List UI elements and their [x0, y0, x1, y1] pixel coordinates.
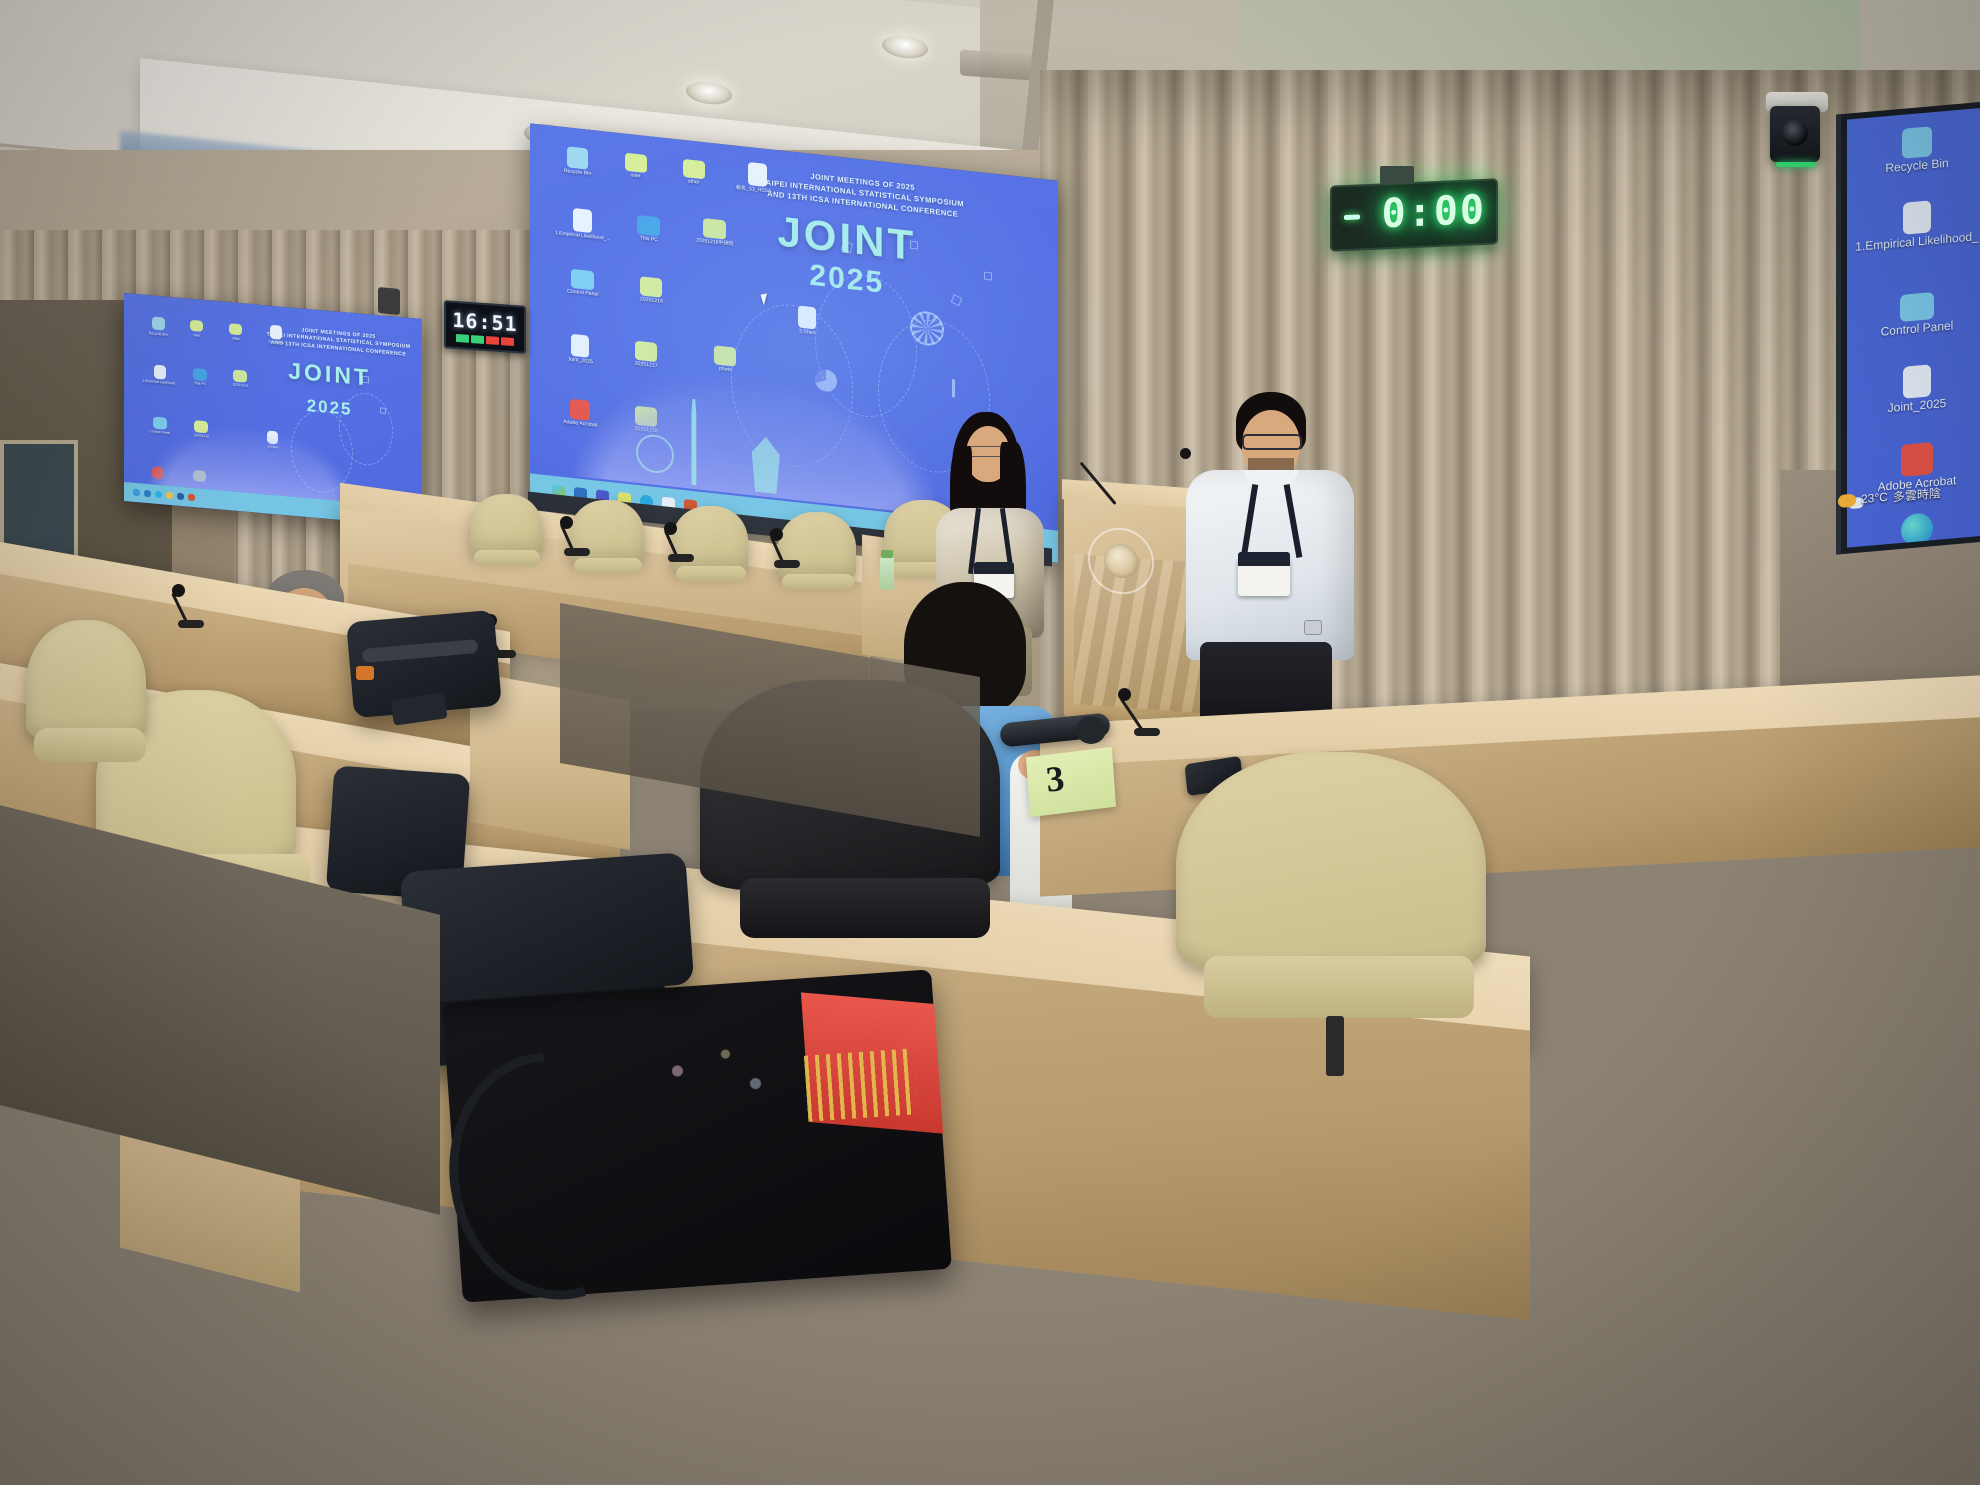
- folder-icon: [233, 369, 247, 382]
- wall-clock-segment: [471, 335, 484, 344]
- wifi-icon: [952, 379, 977, 400]
- conference-room-photo: JOINT MEETINGS OF 2025 TAIPEI INTERNATIO…: [0, 0, 1980, 1485]
- start-icon[interactable]: [133, 489, 140, 497]
- powerpoint-icon[interactable]: [188, 494, 195, 502]
- left-icon-other[interactable]: other: [216, 322, 255, 343]
- panel-chair[interactable]: [470, 494, 550, 584]
- pdf-icon: [573, 208, 592, 233]
- timer-dash-indicator: [1344, 214, 1360, 220]
- desktop-icon-control-panel[interactable]: Control Panel: [548, 267, 617, 301]
- folder-icon: [640, 277, 662, 298]
- control-panel-icon: [1900, 292, 1934, 322]
- office-chair-right[interactable]: [1176, 752, 1526, 1082]
- eyeglasses-icon: [1242, 434, 1302, 450]
- right-icon-recycle-bin[interactable]: Recycle Bin: [1847, 121, 1980, 179]
- wall-clock-time: 16:51: [446, 307, 524, 336]
- gooseneck-microphone[interactable]: [168, 584, 214, 624]
- pdf-icon: [154, 364, 166, 379]
- podium-microphone[interactable]: [1106, 446, 1196, 502]
- institute-crest-icon: [1104, 543, 1138, 579]
- water-bottle-cap: [881, 550, 893, 558]
- pdf-icon: [1903, 364, 1931, 398]
- mouse-cursor: [761, 293, 771, 305]
- folder-user-icon: [190, 320, 203, 332]
- ceiling-vent: [960, 49, 1034, 80]
- left-icon-this-pc[interactable]: This PC: [181, 367, 220, 388]
- wall-clock-segment: [486, 336, 499, 345]
- desktop-icon-recycle-bin[interactable]: Recycle Bin: [548, 144, 606, 179]
- weather-temperature: 23°C: [1861, 490, 1888, 506]
- camera-status-led: [1776, 162, 1816, 167]
- gooseneck-microphone[interactable]: [1116, 688, 1186, 732]
- left-icon-folder-20251216[interactable]: 20251216: [219, 368, 261, 390]
- gooseneck-microphone[interactable]: [556, 516, 596, 552]
- desktop-icon-other[interactable]: other: [665, 157, 723, 189]
- wall-clock-segment: [501, 337, 514, 346]
- control-panel-icon: [571, 269, 594, 290]
- desktop-icon-user[interactable]: user: [607, 151, 665, 183]
- search-icon[interactable]: [144, 490, 151, 498]
- document-icon: [748, 162, 767, 187]
- this-pc-icon: [193, 368, 207, 381]
- tote-bag-floral-print: [647, 1027, 793, 1127]
- wall-clock: 16:51: [444, 300, 526, 354]
- decor-square: [910, 241, 918, 250]
- recycle-bin-icon: [567, 146, 588, 169]
- desktop-icon-empirical-likelihood[interactable]: 1.Empirical Likelihood_...: [548, 206, 617, 244]
- desktop-icon-this-pc[interactable]: This PC: [620, 213, 678, 246]
- recycle-bin-icon: [1902, 126, 1932, 159]
- right-icon-control-panel[interactable]: Control Panel: [1847, 287, 1980, 342]
- document-icon: [270, 324, 282, 339]
- decor-square: [362, 376, 369, 384]
- left-screen-mount-bracket: [378, 287, 400, 315]
- timer-mount-bracket: [1380, 166, 1414, 184]
- backpack-buckle-icon: [356, 666, 374, 680]
- edge-icon: [1901, 512, 1933, 547]
- edge-icon[interactable]: [155, 491, 162, 499]
- word-icon[interactable]: [177, 493, 184, 501]
- wristwatch-icon: [1304, 620, 1322, 635]
- weather-condition: 多雲時陰: [1893, 484, 1941, 505]
- right-icon-empirical-likelihood[interactable]: 1.Empirical Likelihood_: [1847, 195, 1980, 255]
- right-icon-joint-2025[interactable]: Joint_2025: [1847, 359, 1980, 419]
- left-screen-logo-word: JOINT: [261, 355, 398, 394]
- microphone-head-icon: [1076, 716, 1106, 744]
- camera-lens-icon: [1782, 120, 1808, 146]
- tote-bag-graphic: [804, 1048, 918, 1122]
- countdown-timer: 0:00: [1330, 178, 1498, 251]
- wall-clock-segment: [456, 334, 469, 343]
- recycle-bin-icon: [152, 316, 165, 330]
- ceiling-camera: [1766, 92, 1828, 170]
- badge-header: [1238, 552, 1290, 566]
- countdown-timer-value: 0:00: [1332, 180, 1496, 245]
- note-card-mark: 3: [1044, 756, 1082, 799]
- left-icon-recycle-bin[interactable]: Recycle Bin: [139, 315, 178, 338]
- folder-icon: [683, 159, 705, 179]
- man-standing-right: [1186, 392, 1356, 742]
- explorer-icon[interactable]: [166, 492, 173, 500]
- gooseneck-microphone[interactable]: [766, 528, 806, 564]
- adobe-acrobat-icon: [1901, 442, 1933, 477]
- left-icon-user[interactable]: user: [178, 318, 217, 339]
- folder-icon: [229, 323, 242, 335]
- left-icon-empirical-likelihood[interactable]: 1.Empirical Likelihood_: [139, 363, 181, 387]
- decor-square: [380, 407, 386, 414]
- folder-icon: [703, 219, 726, 240]
- decor-square: [984, 272, 992, 281]
- office-chair-far-left[interactable]: [26, 620, 166, 800]
- cloudy-icon: [1838, 493, 1856, 508]
- badge-header: [974, 562, 1014, 574]
- gooseneck-microphone[interactable]: [660, 522, 700, 558]
- folder-user-icon: [625, 153, 647, 173]
- pdf-icon: [1903, 200, 1931, 234]
- left-icon-registration[interactable]: S3_HSSA: [255, 323, 297, 347]
- desktop-icon-folder-20251216[interactable]: 20251216: [620, 274, 683, 308]
- backpack-foreground[interactable]: [400, 852, 695, 1004]
- this-pc-icon: [637, 215, 660, 236]
